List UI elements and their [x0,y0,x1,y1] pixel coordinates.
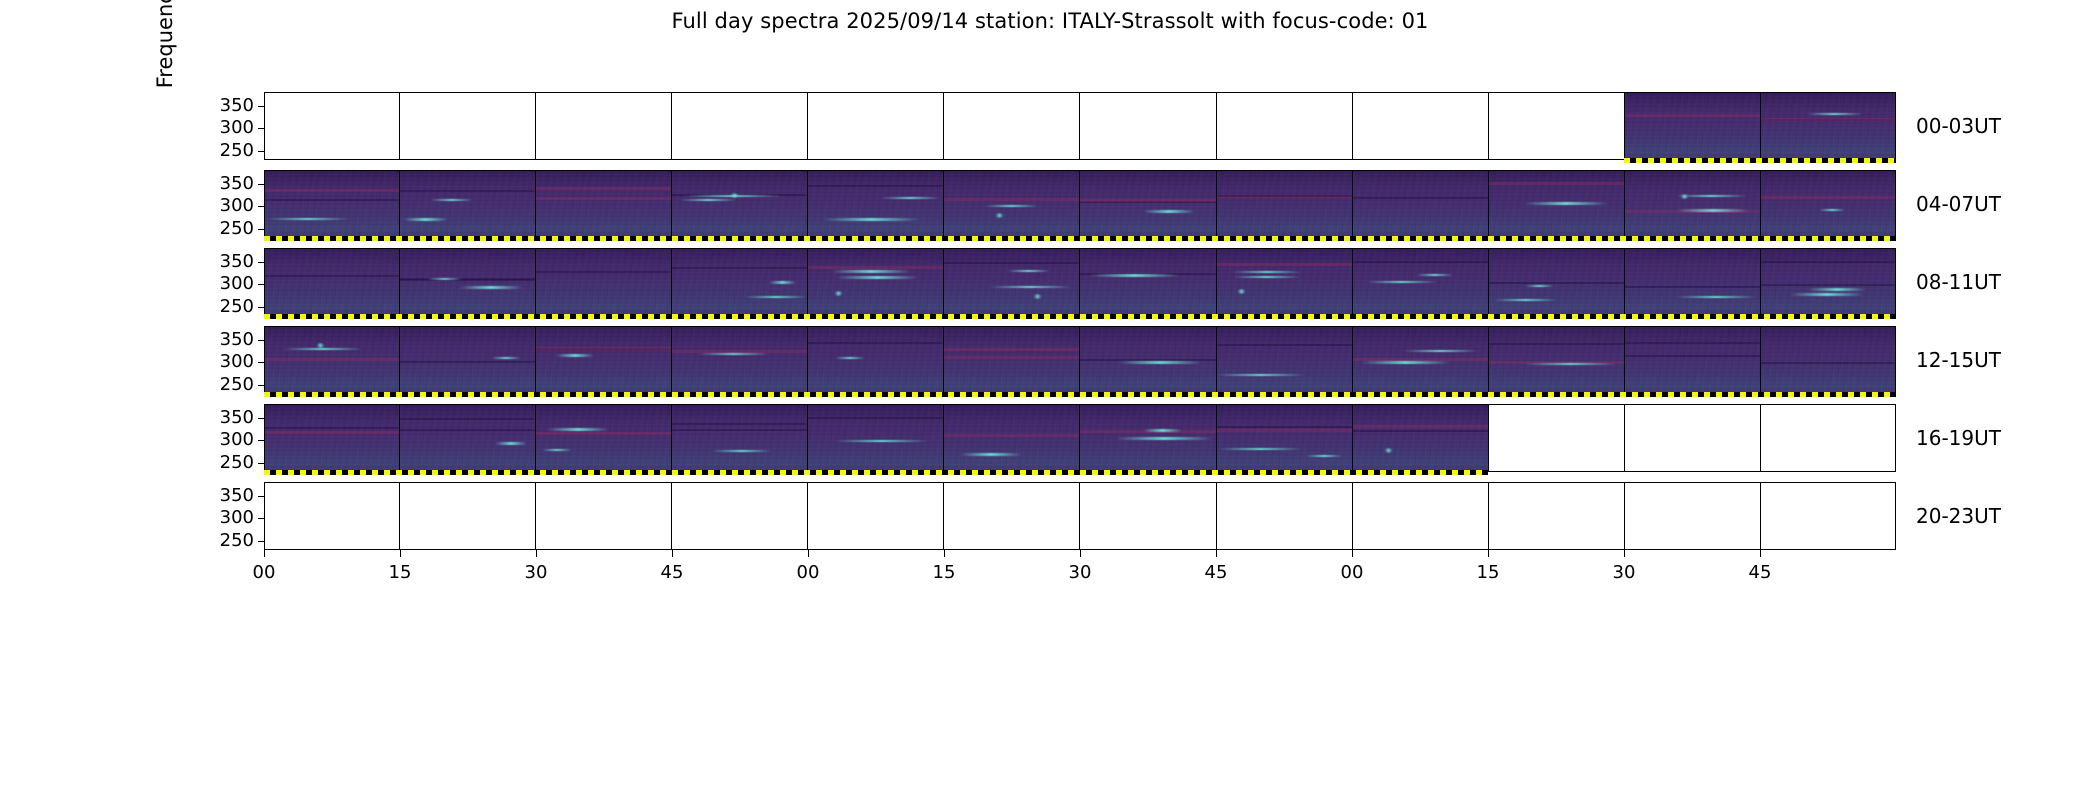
y-axis-tick [1079,284,1080,285]
emission-dotted-row [1489,264,1624,266]
y-axis-tick-label: 300 [220,275,254,293]
y-axis-tick [258,307,264,308]
emission-streak [1232,271,1302,274]
y-axis-tick [1760,151,1761,152]
spectrogram-image [944,170,1079,238]
spectrogram-panel[interactable] [264,170,399,238]
y-axis-tick-label: 250 [220,532,254,550]
x-axis-tick-label: 30 [1613,562,1636,583]
spectrogram-image [944,326,1079,394]
emission-streak [1806,113,1864,116]
y-axis-tick [1216,106,1217,107]
emission-band [400,190,535,192]
y-axis-tick [1216,496,1217,497]
emission-band [1489,361,1624,364]
y-axis-tick [807,385,808,386]
y-axis-tick [671,541,672,542]
spectrogram-image [400,248,535,316]
emission-dotted-row [808,342,943,344]
emission-dotted-row [1761,186,1896,188]
spectrogram-panel[interactable] [535,326,671,394]
spectrogram-image [672,326,807,394]
y-axis-tick [1624,229,1625,230]
y-axis-tick [807,518,808,519]
emission-band [264,431,399,434]
spectrogram-image [1080,170,1215,238]
spectrogram-panel[interactable] [943,404,1079,472]
emission-streak [680,199,737,202]
emission-dotted-row [1217,264,1352,266]
spectrogram-image [264,326,399,394]
emission-band [808,185,943,187]
x-axis-tick-label: 45 [661,562,684,583]
y-axis-tick [1488,262,1489,263]
y-axis-tick [1352,307,1353,308]
y-axis-tick [1216,418,1217,419]
y-axis-tick [1352,541,1353,542]
spectrogram-image [400,326,535,394]
spectrogram-panel[interactable] [1079,326,1215,394]
spectrogram-panel[interactable] [535,92,671,160]
y-axis-tick [258,340,264,341]
y-axis-tick [399,362,400,363]
y-axis-tick-label: 350 [220,487,254,505]
spectrogram-row: 350300250 [264,170,1896,238]
spectrogram-panel[interactable] [671,248,807,316]
y-axis-tick [1488,229,1489,230]
y-axis-tick [535,541,536,542]
emission-streak [1525,285,1554,288]
y-axis-tick [258,106,264,107]
y-axis-tick [671,206,672,207]
spectrogram-image [264,170,399,238]
emission-streak [1524,363,1617,366]
spectrogram-panel[interactable] [1488,326,1624,394]
y-axis-tick [1624,206,1625,207]
spectrogram-image [264,404,399,472]
spectrogram-panel[interactable] [1760,482,1896,550]
y-axis-tick [807,463,808,464]
y-axis-tick [535,418,536,419]
spectrogram-panel[interactable] [1079,404,1215,472]
emission-band [400,418,535,420]
y-axis-tick [1352,440,1353,441]
y-axis-tick [1488,463,1489,464]
spectrogram-panel[interactable] [1352,92,1488,160]
y-axis-tick [535,440,536,441]
emission-band [264,275,399,277]
spectrogram-panel[interactable] [535,404,671,472]
y-axis-tick [399,541,400,542]
spectrogram-panel[interactable] [943,248,1079,316]
y-axis-tick [671,463,672,464]
spectrogram-panel[interactable] [399,404,535,472]
spectrogram-panel[interactable] [535,248,671,316]
emission-band [1353,261,1488,263]
spectrogram-panel[interactable] [1079,170,1215,238]
emission-band [1080,430,1215,433]
emission-band [672,194,807,196]
y-axis-tick [671,262,672,263]
emission-dotted-row [1761,342,1896,344]
emission-streak [1306,455,1342,458]
emission-streak [835,440,928,443]
spectrogram-image [536,170,671,238]
spectrogram-row: 350300250 [264,404,1896,472]
spectrogram-panel[interactable] [943,326,1079,394]
y-axis-tick [535,184,536,185]
y-axis-tick [1216,541,1217,542]
emission-streak [712,450,771,453]
spectrogram-image [536,248,671,316]
spectrogram-panel[interactable] [1079,482,1215,550]
spectrogram-panel[interactable] [943,92,1079,160]
spectrogram-panel[interactable] [943,482,1079,550]
spectrogram-panel[interactable] [1352,170,1488,238]
spectrogram-panel[interactable] [264,482,399,550]
y-axis-tick [1760,229,1761,230]
emission-dotted-row [264,342,399,344]
y-axis-tick [1488,340,1489,341]
y-axis-tick [535,284,536,285]
spectrogram-panel[interactable] [671,482,807,550]
emission-band [536,271,671,273]
y-axis-tick [943,340,944,341]
x-axis-tick-label: 15 [933,562,956,583]
spectrogram-panel[interactable] [264,248,399,316]
emission-dotted-row [536,342,671,344]
emission-dotted-row [1761,264,1896,266]
x-axis-tick [1624,550,1625,557]
row-time-label: 16-19UT [1916,426,2001,450]
spectrogram-image [672,248,807,316]
y-axis-tick [671,418,672,419]
emission-dotted-row [400,186,535,188]
spectrogram-panel[interactable] [1760,404,1896,472]
spectrogram-panel[interactable] [535,482,671,550]
spectrogram-panel[interactable] [535,170,671,238]
y-axis-tick [943,518,944,519]
y-axis-label: Frequency [MHz] [152,0,178,180]
emission-blob [730,193,739,198]
y-axis-tick [399,262,400,263]
spectrogram-panel[interactable] [1624,92,1760,160]
y-axis-tick [1488,541,1489,542]
emission-band [672,267,807,269]
y-axis-tick [258,385,264,386]
y-axis-tick [671,284,672,285]
emission-streak [491,357,521,360]
y-axis-tick [671,385,672,386]
y-axis-tick [1216,128,1217,129]
spectrogram-panel[interactable] [1352,404,1488,472]
y-axis-tick [671,496,672,497]
y-axis-tick-label: 300 [220,509,254,527]
spectrogram-panel[interactable] [1624,326,1760,394]
y-axis-tick [1488,362,1489,363]
y-axis-tick [258,262,264,263]
y-axis-tick [1488,385,1489,386]
y-axis-tick [399,229,400,230]
emission-band [944,198,1079,201]
spectrogram-image [1625,92,1760,160]
spectrogram-panel[interactable] [264,404,399,472]
emission-dotted-row [400,342,535,344]
emission-streak [1524,202,1608,205]
spectrogram-panel[interactable] [399,170,535,238]
y-axis-tick [535,206,536,207]
emission-dotted-row [944,420,1079,422]
y-axis-tick [1760,418,1761,419]
y-axis-tick [399,385,400,386]
emission-dotted-row [808,186,943,188]
emission-streak [836,276,919,279]
y-axis-tick [1624,262,1625,263]
spectrogram-row: 350300250 [264,248,1896,316]
y-axis-tick [1624,440,1625,441]
emission-streak [1403,350,1477,353]
spectrogram-panel[interactable] [1079,92,1215,160]
y-axis-tick [258,440,264,441]
spectrogram-panel[interactable] [1488,404,1624,472]
spectrogram-panel[interactable] [264,326,399,394]
y-axis-tick [399,106,400,107]
emission-dotted-row [1625,342,1760,344]
spectrogram-image [1761,326,1896,394]
emission-dotted-row [264,264,399,266]
data-marker-dashline [264,236,1896,241]
y-axis-tick [943,496,944,497]
y-axis-tick [1624,151,1625,152]
emission-streak [835,357,865,360]
emission-streak [283,348,363,351]
spectrogram-panel[interactable] [1760,92,1896,160]
y-axis-tick-label: 350 [220,409,254,427]
y-axis-tick-label: 350 [220,97,254,115]
emission-blob [1237,289,1246,294]
y-axis-tick [1352,362,1353,363]
page-title: Full day spectra 2025/09/14 station: ITA… [0,9,2100,33]
emission-streak [495,442,526,445]
y-axis-tick [943,106,944,107]
emission-band [1761,362,1896,364]
emission-dotted-row [1353,264,1488,266]
y-axis-tick [1079,418,1080,419]
y-axis-tick [1760,385,1761,386]
y-axis-tick [1079,128,1080,129]
emission-streak [547,428,609,431]
y-axis-tick-label: 300 [220,431,254,449]
y-axis-tick [1352,184,1353,185]
y-axis-tick [671,307,672,308]
emission-streak [1361,361,1450,364]
emission-dotted-row [536,264,671,266]
y-axis-tick [1216,340,1217,341]
spectrogram-panel[interactable] [807,482,943,550]
y-axis-tick [807,362,808,363]
spectrogram-panel[interactable] [1488,482,1624,550]
emission-band [944,434,1079,437]
emission-dotted-row [1217,186,1352,188]
emission-band [672,423,807,425]
spectrogram-panel[interactable] [399,92,535,160]
y-axis-tick [943,151,944,152]
spectrogram-row: 350300250 [264,92,1896,160]
spectrogram-panel[interactable] [671,326,807,394]
y-axis-tick [1624,385,1625,386]
y-axis-tick [1488,307,1489,308]
spectrogram-panel[interactable] [1624,170,1760,238]
emission-streak [985,205,1038,208]
spectrogram-panel[interactable] [1488,248,1624,316]
spectrogram-panel[interactable] [264,92,399,160]
spectrogram-panel[interactable] [399,482,535,550]
emission-streak [427,278,462,281]
y-axis-tick [1488,206,1489,207]
y-axis-tick [807,541,808,542]
emission-dotted-row [1625,108,1760,110]
emission-band [808,266,943,269]
y-axis-tick [399,284,400,285]
spectrogram-image [808,170,943,238]
spectrogram-image [672,170,807,238]
spectrogram-panel[interactable] [1352,482,1488,550]
y-axis-tick [807,262,808,263]
y-axis-tick [399,340,400,341]
spectrogram-panel[interactable] [1079,248,1215,316]
y-axis-tick [671,151,672,152]
spectrogram-panel[interactable] [807,248,943,316]
spectrogram-panel[interactable] [1216,248,1352,316]
emission-dotted-row [536,420,671,422]
y-axis-tick [1079,496,1080,497]
spectrogram-panel[interactable] [1216,326,1352,394]
spectrogram-panel[interactable] [1760,248,1896,316]
y-axis-tick [943,541,944,542]
y-axis-tick [1488,128,1489,129]
emission-band [264,189,399,192]
y-axis-tick [535,463,536,464]
emission-band [1217,263,1352,266]
spectrogram-panel[interactable] [1352,326,1488,394]
emission-band [1761,284,1896,286]
spectrogram-image [944,404,1079,472]
spectrogram-image [1217,326,1352,394]
emission-streak [1416,274,1452,277]
emission-dotted-row [1489,186,1624,188]
emission-dotted-row [944,264,1079,266]
emission-band [400,361,535,363]
spectrogram-panel[interactable] [671,170,807,238]
emission-streak [1676,296,1756,299]
y-axis-tick [1216,440,1217,441]
emission-streak [1217,374,1305,377]
y-axis-tick [1624,128,1625,129]
spectrogram-panel[interactable] [671,92,807,160]
y-axis-tick-label: 350 [220,253,254,271]
y-axis-tick [671,518,672,519]
spectrogram-image [672,404,807,472]
y-axis-tick [1352,463,1353,464]
y-axis-tick [1216,151,1217,152]
emission-band [1217,195,1352,198]
y-axis-tick [535,151,536,152]
emission-dotted-row [808,420,943,422]
spectrogram-panel[interactable] [1760,326,1896,394]
y-axis-tick-label: 300 [220,353,254,371]
y-axis-tick [807,340,808,341]
y-axis-tick [1352,262,1353,263]
spectrogram-panel[interactable] [1760,170,1896,238]
y-axis-tick [807,128,808,129]
spectrogram-panel[interactable] [1216,92,1352,160]
emission-band [400,279,535,281]
spectrogram-image [1080,404,1215,472]
spectrogram-panel[interactable] [1488,170,1624,238]
spectrogram-panel[interactable] [671,404,807,472]
spectrogram-panel[interactable] [807,326,943,394]
spectrogram-panel[interactable] [807,404,943,472]
spectrogram-image [1761,170,1896,238]
emission-streak [989,286,1072,289]
y-axis-tick [258,229,264,230]
y-axis-tick [1079,206,1080,207]
y-axis-tick [943,440,944,441]
spectrogram-panel[interactable] [1624,248,1760,316]
emission-streak [1118,361,1202,364]
spectrogram-panel[interactable] [1216,404,1352,472]
y-axis-tick [1624,184,1625,185]
emission-band [1625,342,1760,344]
emission-band [1080,273,1215,275]
y-axis-tick [1352,151,1353,152]
y-axis-tick [535,106,536,107]
y-axis-tick-label: 350 [220,331,254,349]
y-axis-tick [943,284,944,285]
emission-blob [1384,448,1393,453]
spectrogram-panel[interactable] [1488,92,1624,160]
y-axis-tick [1352,206,1353,207]
x-axis-tick-label: 15 [1477,562,1500,583]
spectrogram-image [808,248,943,316]
y-axis-tick [943,229,944,230]
spectrogram-image [1489,170,1624,238]
spectrogram-panel[interactable] [399,326,535,394]
spectrogram-figure: Full day spectra 2025/09/14 station: ITA… [0,0,2100,800]
spectrogram-panel[interactable] [1624,404,1760,472]
y-axis-tick [943,128,944,129]
spectrogram-panel[interactable] [1624,482,1760,550]
emission-streak [831,270,911,273]
data-marker-dashline [264,392,1896,397]
spectrogram-panel[interactable] [399,248,535,316]
y-axis-tick [943,262,944,263]
y-axis-tick [1352,385,1353,386]
y-axis-tick-label: 350 [220,175,254,193]
emission-streak [459,286,523,289]
emission-streak [698,353,769,356]
spectrogram-panel[interactable] [1216,170,1352,238]
y-axis-tick [535,128,536,129]
y-axis-tick [535,307,536,308]
y-axis-tick [1760,463,1761,464]
spectrogram-panel[interactable] [807,170,943,238]
emission-band [1353,197,1488,199]
spectrogram-panel[interactable] [1216,482,1352,550]
spectrogram-panel[interactable] [1352,248,1488,316]
spectrogram-panel[interactable] [807,92,943,160]
spectrogram-panel[interactable] [943,170,1079,238]
